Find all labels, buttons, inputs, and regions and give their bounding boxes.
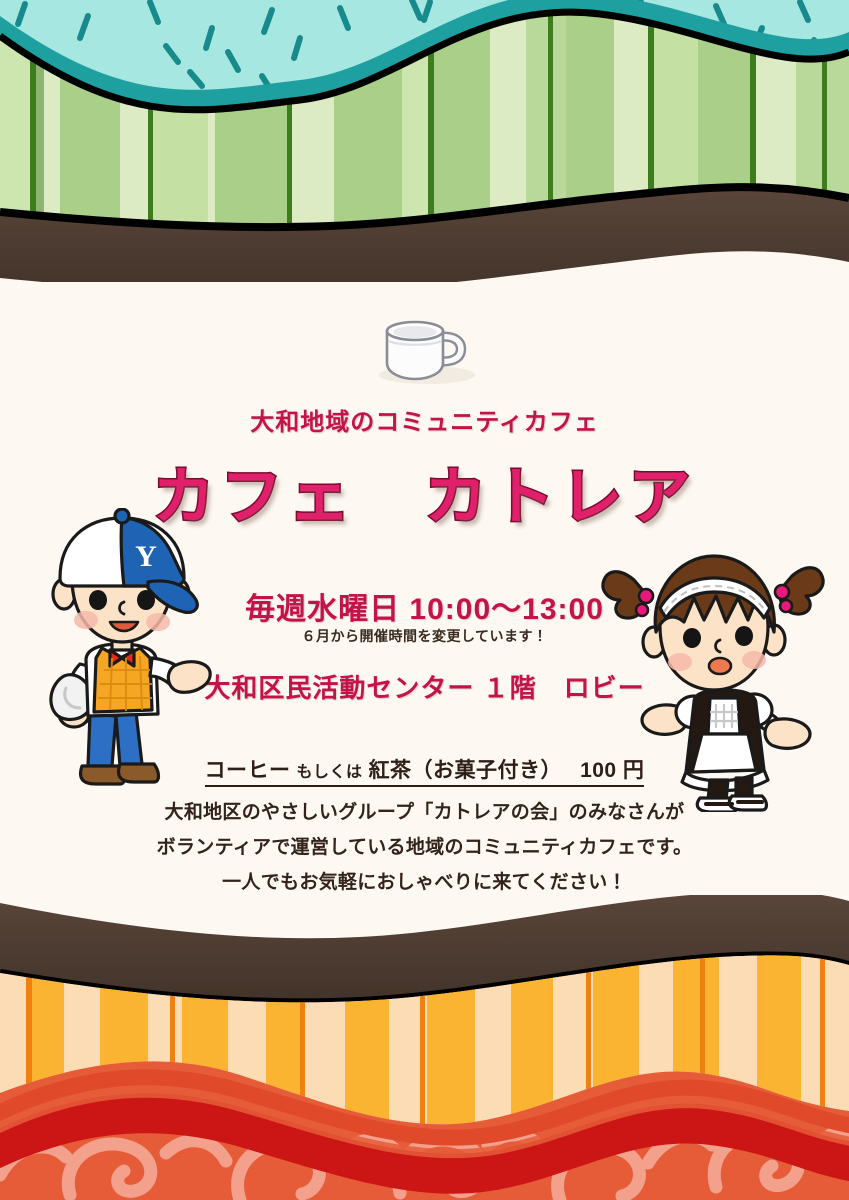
top-outline-upper [0, 12, 849, 110]
mint-rim [0, 0, 849, 110]
coffee-cup-icon [365, 305, 485, 385]
description-line-2: ボランティアで運営している地域のコミュニティカフェです。 [0, 830, 849, 865]
price-underlined-group: コーヒーもしくは紅茶（お菓子付き）100 円 [205, 759, 645, 787]
top-outline-lower [0, 187, 849, 227]
red-wave [0, 1093, 849, 1193]
coffee-cup-wrap [0, 305, 849, 390]
description-line-3: 一人でもお気軽におしゃべりに来てください！ [0, 865, 849, 900]
mint-icing-layer [0, 0, 849, 120]
price-item-secondary: 紅茶（お菓子付き） [369, 759, 563, 782]
orange-stripe-layer [0, 895, 849, 1200]
green-stripe-layer [0, 0, 849, 300]
poster-root: 大和地域のコミュニティカフェ カフェ カトレア 毎週水曜日 10:00〜13:0… [0, 0, 849, 1200]
chocolate-band-top [0, 187, 849, 293]
bottom-outline-upper [0, 955, 849, 1002]
top-decoration-band [0, 0, 849, 300]
boy-mascot: Y [28, 508, 218, 813]
bottom-decoration-band [0, 895, 849, 1200]
price-connector: もしくは [297, 764, 363, 781]
girl-mascot [598, 522, 828, 817]
cap-letter: Y [135, 540, 157, 573]
red-swirl-layer [0, 1035, 849, 1200]
subtitle-text: 大和地域のコミュニティカフェ [0, 402, 849, 437]
